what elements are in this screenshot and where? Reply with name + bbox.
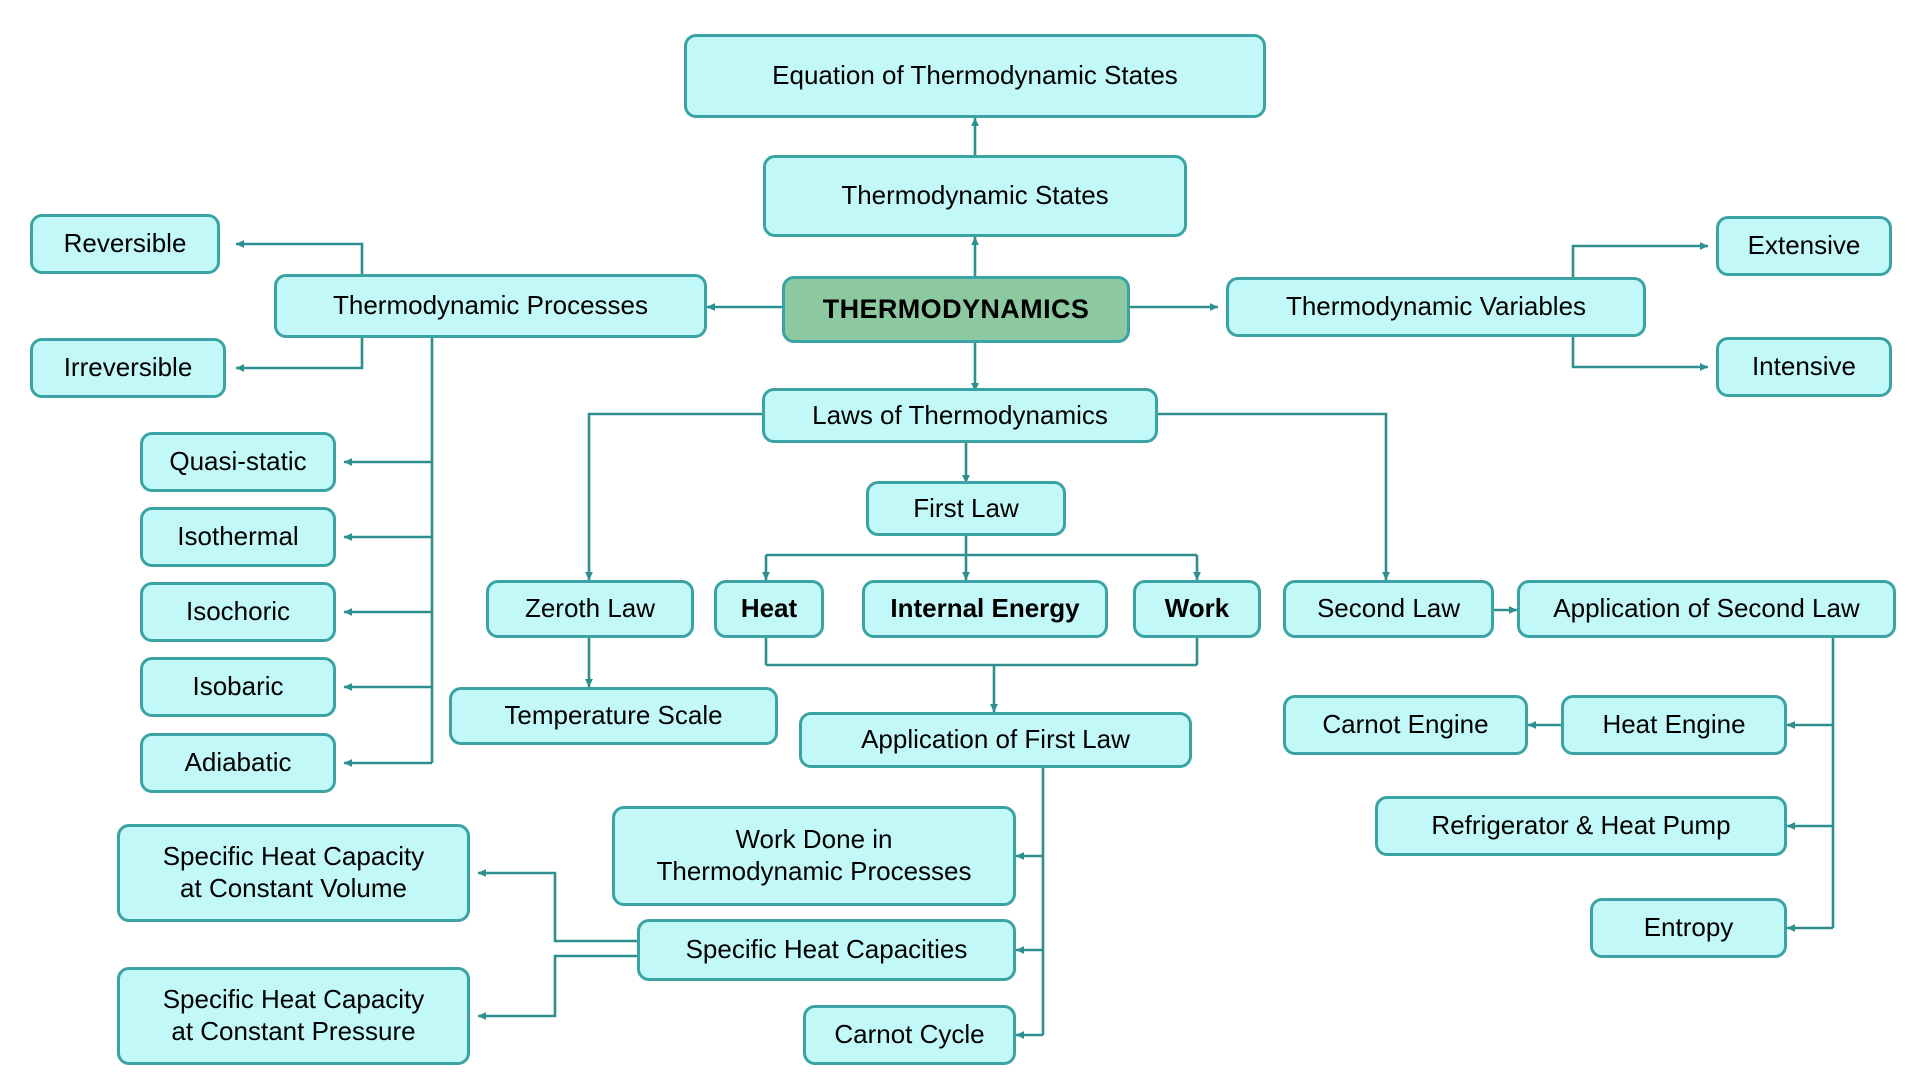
- edge-laws-to-secondlaw: [1158, 414, 1386, 580]
- edge-processes-to-irreversible: [236, 338, 362, 368]
- node-first-law[interactable]: First Law: [866, 481, 1066, 536]
- node-isochoric[interactable]: Isochoric: [140, 582, 336, 642]
- node-work-done-in-thermodynamic-processes[interactable]: Work Done in Thermodynamic Processes: [612, 806, 1016, 906]
- node-work[interactable]: Work: [1133, 580, 1261, 638]
- node-isothermal[interactable]: Isothermal: [140, 507, 336, 567]
- node-specific-heat-capacities[interactable]: Specific Heat Capacities: [637, 919, 1016, 981]
- node-thermodynamic-variables[interactable]: Thermodynamic Variables: [1226, 277, 1646, 337]
- node-thermodynamic-states[interactable]: Thermodynamic States: [763, 155, 1187, 237]
- node-thermodynamic-root[interactable]: THERMODYNAMICS: [782, 276, 1130, 343]
- node-equation-of-thermodynamic-states[interactable]: Equation of Thermodynamic States: [684, 34, 1266, 118]
- mindmap-canvas: Equation of Thermodynamic States Thermod…: [0, 0, 1920, 1080]
- node-heat[interactable]: Heat: [714, 580, 824, 638]
- node-carnot-cycle[interactable]: Carnot Cycle: [803, 1005, 1016, 1065]
- node-temperature-scale[interactable]: Temperature Scale: [449, 687, 778, 745]
- node-application-of-first-law[interactable]: Application of First Law: [799, 712, 1192, 768]
- node-internal-energy[interactable]: Internal Energy: [862, 580, 1108, 638]
- node-specific-heat-capacity-constant-pressure[interactable]: Specific Heat Capacity at Constant Press…: [117, 967, 470, 1065]
- edge-shc-to-cp: [478, 956, 637, 1016]
- node-second-law[interactable]: Second Law: [1283, 580, 1494, 638]
- edge-laws-to-zeroth: [589, 414, 762, 580]
- node-laws-of-thermodynamics[interactable]: Laws of Thermodynamics: [762, 388, 1158, 443]
- node-application-of-second-law[interactable]: Application of Second Law: [1517, 580, 1896, 638]
- edge-variables-to-intensive: [1573, 337, 1708, 367]
- node-entropy[interactable]: Entropy: [1590, 898, 1787, 958]
- edge-variables-to-extensive: [1573, 246, 1708, 277]
- node-specific-heat-capacity-constant-volume[interactable]: Specific Heat Capacity at Constant Volum…: [117, 824, 470, 922]
- node-refrigerator-heat-pump[interactable]: Refrigerator & Heat Pump: [1375, 796, 1787, 856]
- node-extensive[interactable]: Extensive: [1716, 216, 1892, 276]
- node-reversible[interactable]: Reversible: [30, 214, 220, 274]
- node-quasi-static[interactable]: Quasi-static: [140, 432, 336, 492]
- node-carnot-engine[interactable]: Carnot Engine: [1283, 695, 1528, 755]
- node-adiabatic[interactable]: Adiabatic: [140, 733, 336, 793]
- node-zeroth-law[interactable]: Zeroth Law: [486, 580, 694, 638]
- node-heat-engine[interactable]: Heat Engine: [1561, 695, 1787, 755]
- node-intensive[interactable]: Intensive: [1716, 337, 1892, 397]
- node-irreversible[interactable]: Irreversible: [30, 338, 226, 398]
- node-isobaric[interactable]: Isobaric: [140, 657, 336, 717]
- node-thermodynamic-processes[interactable]: Thermodynamic Processes: [274, 274, 707, 338]
